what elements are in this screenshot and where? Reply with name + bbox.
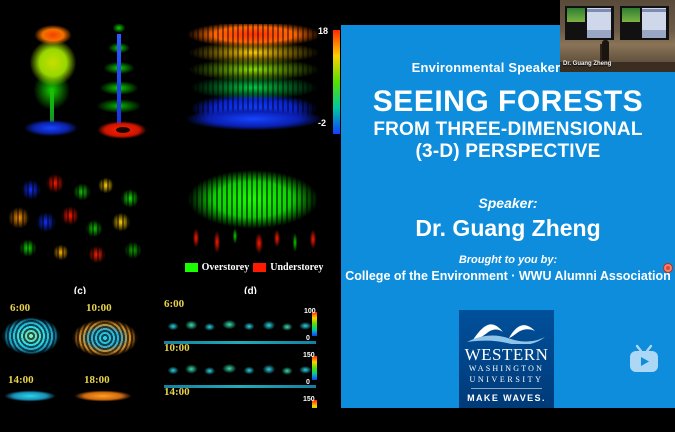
mini-colorbar-0600-min: 0 bbox=[306, 335, 310, 342]
overstorey-label: Overstorey bbox=[202, 262, 250, 273]
transect-time-1000: 10:00 bbox=[164, 342, 190, 354]
webcam-name-label: Dr. Guang Zheng bbox=[563, 61, 611, 67]
figure-caption-c: (c) bbox=[0, 286, 160, 294]
promo-speaker-label: Speaker: bbox=[341, 195, 675, 211]
understorey-label: Understorey bbox=[270, 262, 323, 273]
crown-blob-1400 bbox=[2, 390, 58, 402]
time-label-1000: 10:00 bbox=[86, 302, 112, 314]
recording-indicator-icon[interactable] bbox=[663, 263, 673, 273]
ground-return-a1 bbox=[18, 118, 84, 138]
webcam-pip-overlay[interactable]: Dr. Guang Zheng bbox=[560, 0, 675, 72]
time-label-1800: 18:00 bbox=[84, 374, 110, 386]
understorey-swatch bbox=[253, 263, 266, 272]
promo-organizations: College of the Environment · WWU Alumni … bbox=[341, 269, 675, 283]
time-label-1400: 14:00 bbox=[8, 374, 34, 386]
figure-panel-b: (b) bbox=[160, 14, 341, 150]
transect-strip-0600 bbox=[164, 312, 316, 346]
mini-colorbar-1400-max: 150 bbox=[303, 396, 315, 403]
mini-colorbar-1000-min: 0 bbox=[306, 379, 310, 386]
height-colorbar bbox=[333, 30, 340, 134]
tree-trunk-a2 bbox=[117, 34, 121, 124]
figure-panel-a: (a) bbox=[0, 14, 160, 150]
forest-ground-layer-b bbox=[176, 106, 332, 132]
wwu-divider bbox=[471, 388, 542, 389]
figure-caption-d: (d) bbox=[160, 286, 341, 294]
letterbox-bar-bottom bbox=[0, 408, 675, 432]
wwu-tagline: MAKE WAVES. bbox=[459, 394, 554, 403]
mini-colorbar-1000 bbox=[312, 356, 317, 380]
mini-colorbar-1000-max: 150 bbox=[303, 352, 315, 359]
crown-blob-0600 bbox=[0, 316, 62, 356]
projector-screen-right bbox=[620, 6, 669, 40]
storey-legend: Overstorey Understorey bbox=[184, 262, 324, 273]
segmented-tree-crowns bbox=[4, 166, 154, 274]
scanner-position-marker bbox=[116, 127, 130, 133]
transect-time-1400: 14:00 bbox=[164, 386, 190, 398]
figure-panel-c: (c) bbox=[0, 158, 160, 294]
wwu-word-washington: WASHINGTON bbox=[459, 365, 554, 373]
time-label-0600: 6:00 bbox=[10, 302, 30, 314]
transect-time-0600: 6:00 bbox=[164, 298, 184, 310]
crown-blob-1800 bbox=[72, 390, 134, 402]
promo-title: SEEING FORESTS bbox=[341, 87, 675, 117]
promo-subtitle-line2: (3-D) PERSPECTIVE bbox=[341, 142, 675, 161]
overstorey-swatch bbox=[185, 263, 198, 272]
promo-slide: Environmental Speaker Series SEEING FORE… bbox=[341, 25, 675, 408]
figure-panel-time-blobs: 6:00 10:00 14:00 18:00 bbox=[0, 298, 160, 418]
transect-strip-1000 bbox=[164, 356, 316, 390]
promo-subtitle-line1: FROM THREE-DIMENSIONAL bbox=[341, 120, 675, 139]
promo-brought-by-label: Brought to you by: bbox=[341, 254, 675, 266]
understorey-layer bbox=[178, 220, 328, 260]
tv-play-watermark-icon bbox=[626, 343, 662, 377]
colorbar-min-label: -2 bbox=[318, 118, 326, 128]
lidar-figure-slide: (a) (b) 18 -2 (c) Overstorey Understorey bbox=[0, 0, 341, 432]
wwu-word-western: WESTERN bbox=[459, 346, 554, 363]
wwu-mountain-wave-icon bbox=[459, 318, 554, 344]
wwu-word-university: UNIVERSITY bbox=[459, 376, 554, 384]
crown-blob-1000 bbox=[70, 318, 140, 358]
projector-screen-left bbox=[565, 6, 614, 40]
promo-speaker-name: Dr. Guang Zheng bbox=[341, 215, 675, 242]
video-frame: (a) (b) 18 -2 (c) Overstorey Understorey bbox=[0, 0, 675, 432]
mini-colorbar-0600-max: 100 bbox=[304, 308, 316, 315]
figure-panel-d: Overstorey Understorey (d) bbox=[160, 158, 341, 294]
mini-colorbar-0600 bbox=[312, 312, 317, 336]
colorbar-max-label: 18 bbox=[318, 26, 328, 36]
wwu-logo: WESTERN WASHINGTON UNIVERSITY MAKE WAVES… bbox=[459, 310, 554, 408]
presenter-silhouette bbox=[602, 40, 609, 60]
